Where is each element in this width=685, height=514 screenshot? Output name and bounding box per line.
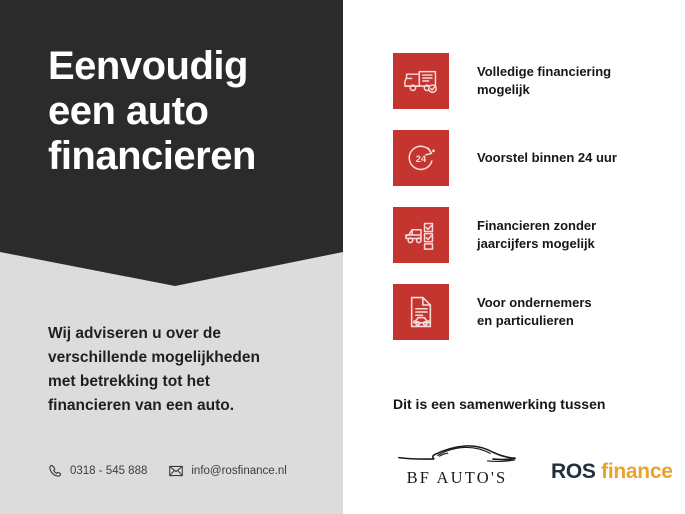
- phone-icon: [48, 464, 62, 478]
- feature-label-line: mogelijk: [477, 81, 667, 99]
- contact-email[interactable]: info@rosfinance.nl: [169, 464, 286, 478]
- finance-wordmark: finance: [601, 460, 672, 483]
- phone-number: 0318 - 545 888: [70, 465, 147, 477]
- feature-label-line: Volledige financiering: [477, 63, 667, 81]
- ros-finance-logo: ROS finance: [551, 460, 673, 484]
- body-copy: Wij adviseren u over de verschillende mo…: [48, 322, 316, 418]
- feature-item: Financieren zonder jaarcijfers mogelijk: [393, 207, 678, 263]
- body-line-1: Wij adviseren u over de: [48, 322, 316, 346]
- feature-item: Volledige financiering mogelijk: [393, 53, 678, 109]
- feature-label-line: jaarcijfers mogelijk: [477, 235, 667, 253]
- contact-row: 0318 - 545 888 info@rosfinance.nl: [48, 464, 287, 478]
- right-column: Volledige financiering mogelijk 24 Voors…: [343, 0, 685, 514]
- headline-line-1: Eenvoudig: [48, 44, 328, 89]
- envelope-icon: [169, 464, 183, 478]
- feature-label: Financieren zonder jaarcijfers mogelijk: [477, 217, 667, 254]
- car-silhouette-icon: [397, 440, 517, 466]
- feature-label: Voorstel binnen 24 uur: [477, 149, 667, 167]
- bf-autos-logo: BF AUTO'S: [393, 440, 521, 488]
- headline-line-2: een auto: [48, 89, 328, 134]
- logo-row: BF AUTO'S ROS finance: [393, 440, 683, 488]
- svg-text:24: 24: [416, 154, 427, 164]
- contact-phone[interactable]: 0318 - 545 888: [48, 464, 147, 478]
- page-title: Eenvoudig een auto financieren: [48, 44, 328, 178]
- partner-block: Dit is een samenwerking tussen BF AUTO'S…: [393, 396, 683, 488]
- ros-wordmark: ROS: [551, 460, 596, 483]
- feature-label-line: Voorstel binnen 24 uur: [477, 149, 667, 167]
- document-car-icon: [393, 284, 449, 340]
- delivery-van-check-icon: [393, 53, 449, 109]
- email-address: info@rosfinance.nl: [191, 465, 286, 477]
- bf-autos-wordmark: BF AUTO'S: [407, 468, 508, 488]
- body-line-3: met betrekking tot het: [48, 370, 316, 394]
- body-line-4: financieren van een auto.: [48, 394, 316, 418]
- clock-24-hour-icon: 24: [393, 130, 449, 186]
- feature-label-line: Financieren zonder: [477, 217, 667, 235]
- feature-item: 24 Voorstel binnen 24 uur: [393, 130, 678, 186]
- partner-title: Dit is een samenwerking tussen: [393, 396, 683, 412]
- feature-item: Voor ondernemers en particulieren: [393, 284, 678, 340]
- promo-poster: Eenvoudig een auto financieren Wij advis…: [0, 0, 685, 514]
- car-checklist-icon: [393, 207, 449, 263]
- body-line-2: verschillende mogelijkheden: [48, 346, 316, 370]
- feature-label-line: en particulieren: [477, 312, 667, 330]
- feature-label-line: Voor ondernemers: [477, 294, 667, 312]
- feature-list: Volledige financiering mogelijk 24 Voors…: [393, 53, 678, 340]
- feature-label: Voor ondernemers en particulieren: [477, 294, 667, 331]
- left-column: Eenvoudig een auto financieren Wij advis…: [0, 0, 343, 514]
- headline-line-3: financieren: [48, 134, 328, 179]
- feature-label: Volledige financiering mogelijk: [477, 63, 667, 100]
